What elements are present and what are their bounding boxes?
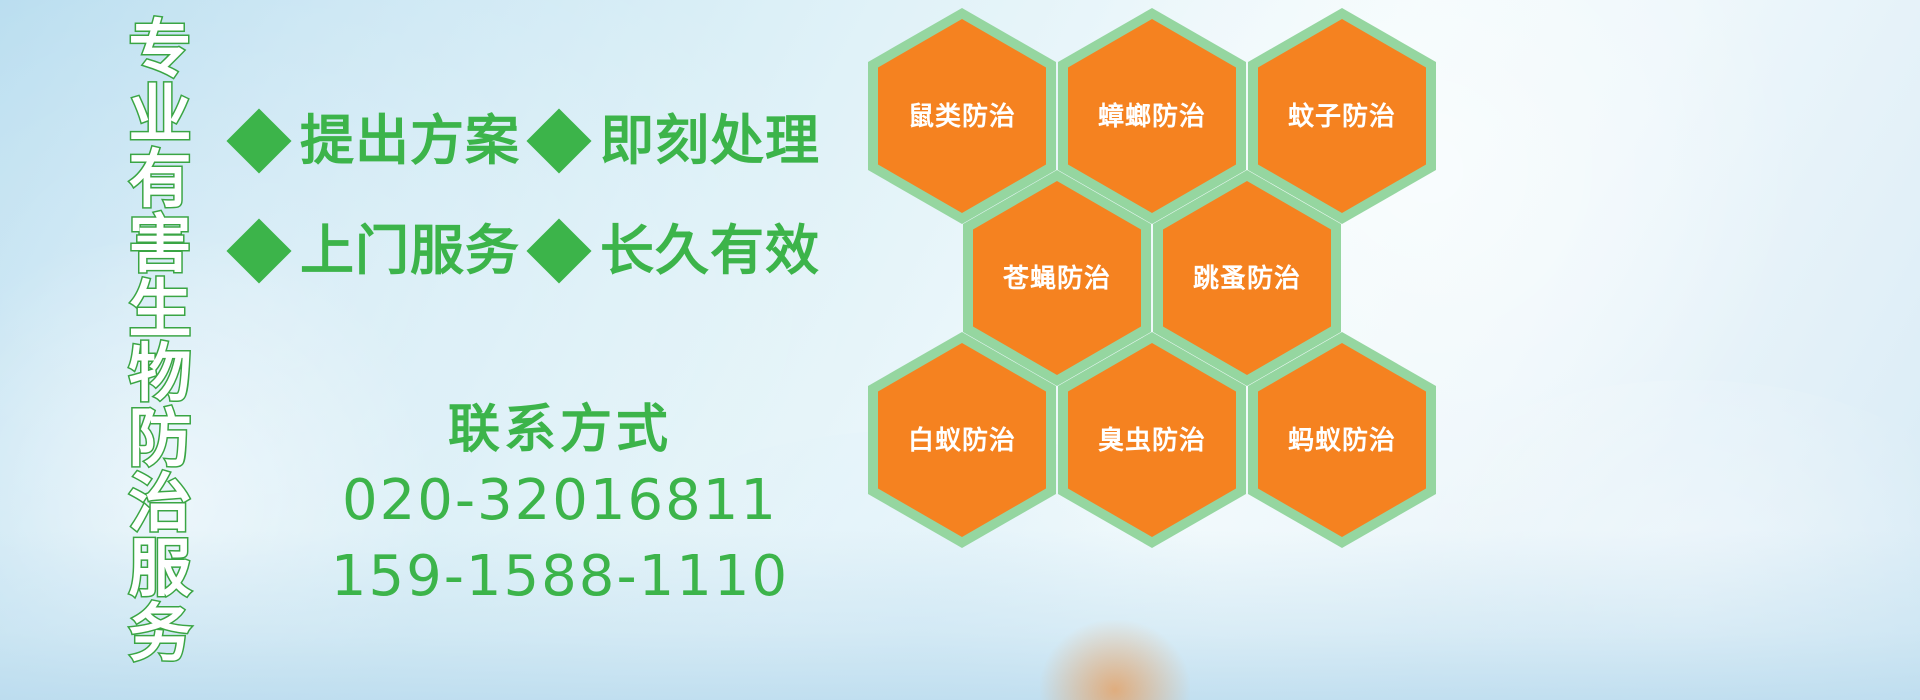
background-orange-glow	[1040, 620, 1190, 700]
vertical-headline-char: 害	[129, 213, 192, 278]
service-hexagon-grid: 鼠类防治 蟑螂防治 蚊子防治 苍蝇防治 跳蚤防治 白蚁防治	[860, 0, 1460, 560]
vertical-headline-char: 有	[129, 148, 192, 213]
feature-row: 提出方案 即刻处理	[236, 86, 876, 196]
hex-inner: 鼠类防治	[878, 19, 1046, 213]
contact-block: 联系方式 020-32016811 159-1588-1110	[300, 398, 820, 614]
service-label: 白蚁防治	[908, 427, 1016, 453]
feature-label: 长久有效	[600, 224, 820, 278]
feature-list: 提出方案 即刻处理 上门服务 长久有效	[236, 86, 876, 306]
vertical-headline-char: 物	[129, 342, 192, 407]
diamond-bullet-icon	[226, 218, 291, 283]
hex-inner: 臭虫防治	[1068, 343, 1236, 537]
service-label: 臭虫防治	[1098, 427, 1206, 453]
hex-inner: 蚂蚁防治	[1258, 343, 1426, 537]
contact-phone-mobile[interactable]: 159-1588-1110	[300, 539, 820, 615]
hex-inner: 苍蝇防治	[973, 181, 1141, 375]
feature-item-long-lasting: 长久有效	[536, 224, 820, 278]
vertical-headline-char: 治	[129, 472, 192, 537]
feature-label: 提出方案	[300, 114, 520, 168]
diamond-bullet-icon	[526, 218, 591, 283]
service-label: 蟑螂防治	[1098, 103, 1206, 129]
feature-item-immediate-handling: 即刻处理	[536, 114, 820, 168]
diamond-bullet-icon	[526, 108, 591, 173]
service-label: 蚂蚁防治	[1288, 427, 1396, 453]
diamond-bullet-icon	[226, 108, 291, 173]
feature-item-propose-plan: 提出方案	[236, 114, 520, 168]
service-label: 蚊子防治	[1288, 103, 1396, 129]
contact-title: 联系方式	[300, 398, 820, 463]
vertical-headline-char: 服	[129, 537, 192, 602]
vertical-headline-char: 生	[129, 278, 192, 343]
service-label: 苍蝇防治	[1003, 265, 1111, 291]
feature-item-onsite-service: 上门服务	[236, 224, 520, 278]
hex-inner: 白蚁防治	[878, 343, 1046, 537]
contact-phone-landline[interactable]: 020-32016811	[300, 463, 820, 539]
feature-row: 上门服务 长久有效	[236, 196, 876, 306]
feature-label: 上门服务	[300, 224, 520, 278]
vertical-headline-char: 业	[129, 83, 192, 148]
service-label: 跳蚤防治	[1193, 265, 1301, 291]
hex-inner: 蟑螂防治	[1068, 19, 1236, 213]
feature-label: 即刻处理	[600, 114, 820, 168]
service-label: 鼠类防治	[908, 103, 1016, 129]
hex-inner: 跳蚤防治	[1163, 181, 1331, 375]
vertical-headline-char: 防	[129, 407, 192, 472]
hex-inner: 蚊子防治	[1258, 19, 1426, 213]
vertical-headline-char: 专	[129, 18, 192, 83]
vertical-headline-char: 务	[129, 602, 192, 667]
vertical-headline: 专 业 有 害 生 物 防 治 服 务	[112, 18, 208, 678]
pest-control-banner: 专 业 有 害 生 物 防 治 服 务 提出方案 即刻处理 上门服务	[0, 0, 1920, 700]
